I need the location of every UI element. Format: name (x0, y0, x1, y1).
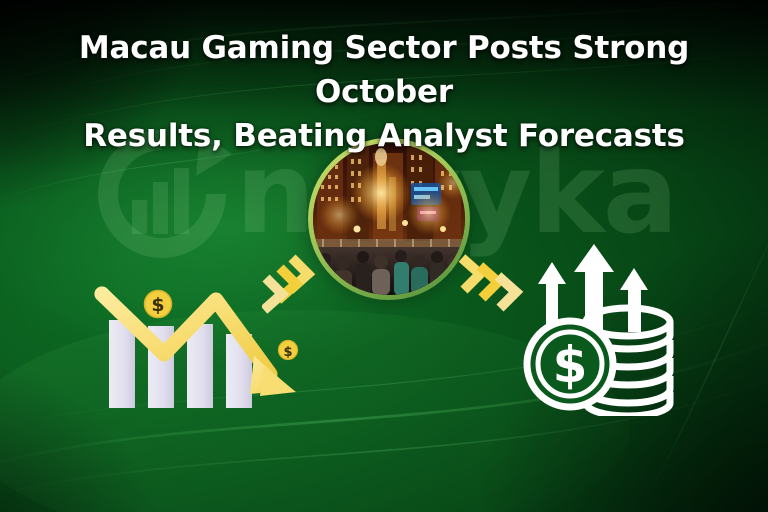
rising-money-illustration: $ (508, 236, 688, 421)
photo-artwork (313, 143, 465, 295)
dollar-coin-large: $ (527, 321, 613, 407)
headline-line-2: Results, Beating Analyst Forecasts (0, 114, 768, 158)
declining-chart-illustration: $ $ (88, 278, 318, 413)
dollar-coin-lower: $ (279, 341, 298, 361)
declining-bar-chart-icon: $ $ (88, 278, 318, 408)
casino-street-photo (313, 143, 465, 295)
dollar-coin-upper: $ (145, 291, 172, 318)
svg-text:$: $ (553, 336, 588, 394)
article-banner: novyka Macau Gaming Sector Posts Strong … (0, 0, 768, 512)
svg-text:$: $ (151, 294, 164, 316)
coin-stack-growth-icon: $ (508, 236, 688, 416)
svg-text:$: $ (283, 345, 292, 360)
headline-line-1: Macau Gaming Sector Posts Strong October (0, 26, 768, 114)
circular-photo-frame (308, 138, 470, 300)
headline: Macau Gaming Sector Posts Strong October… (0, 26, 768, 158)
